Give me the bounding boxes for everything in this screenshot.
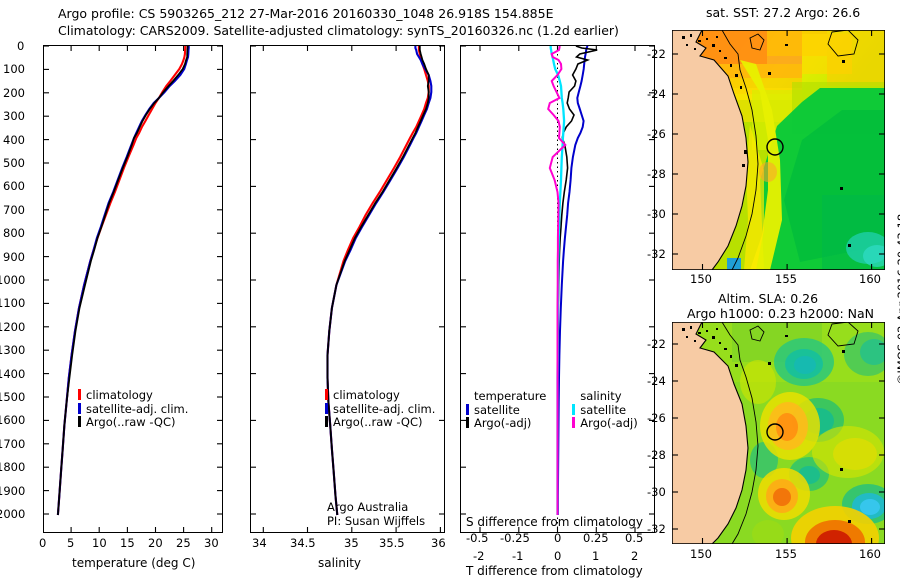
sdiff-xtick-0: 0 [554, 531, 561, 545]
tdiff-xtick-neg2: -2 [473, 549, 484, 563]
sst-ytick-neg30: -30 [647, 207, 666, 221]
legend-swatch-temp-argo [466, 417, 469, 428]
salinity-plot-canvas [250, 45, 445, 533]
depth-tick-1200: 1200 [0, 320, 25, 334]
legend-item-temp-argo: Argo(-adj) [466, 417, 546, 431]
depth-tick-1800: 1800 [0, 460, 25, 474]
legend-item-argo-raw: Argo(..raw -QC) [325, 416, 435, 430]
temp-xtick-10: 10 [92, 536, 107, 550]
legend-header-salinity: salinity [572, 390, 637, 404]
legend-swatch-climatology [325, 389, 328, 400]
sdiff-xtick-0p5: 0.5 [625, 531, 643, 545]
sdiff-xtick-0p25: 0.25 [583, 531, 609, 545]
legend-swatch-satellite-adj [325, 403, 328, 414]
temperature-difference-axis-label: T difference from climatology [466, 564, 643, 578]
tdiff-xtick-neg1: -1 [512, 549, 523, 563]
sal-xtick-35: 35 [344, 536, 359, 550]
temp-xtick-0: 0 [39, 536, 46, 550]
legend-item-sal-argo: Argo(-adj) [572, 417, 637, 431]
sla-ytick-neg28: -28 [647, 448, 666, 462]
difference-legend-salinity-column: salinity satellite Argo(-adj) [572, 390, 637, 431]
sst-xtick-150: 150 [690, 272, 712, 286]
sst-ytick-neg28: -28 [647, 167, 666, 181]
depth-tick-1500: 1500 [0, 390, 25, 404]
legend-item-sal-satellite: satellite [572, 404, 637, 418]
legend-swatch-sal-argo [572, 417, 575, 428]
legend-header-temperature: temperature [466, 390, 546, 404]
depth-tick-200: 200 [3, 86, 25, 100]
legend-item-argo-raw: Argo(..raw -QC) [78, 416, 188, 430]
figure-title-line2: Climatology: CARS2009. Satellite-adjuste… [58, 23, 619, 38]
sst-map [672, 30, 885, 270]
depth-tick-400: 400 [3, 133, 25, 147]
difference-legend: temperature satellite Argo(-adj) salinit… [466, 390, 638, 431]
depth-tick-1000: 1000 [0, 273, 25, 287]
legend-header-label: salinity [580, 389, 621, 403]
sal-xtick-34: 34 [252, 536, 267, 550]
legend-swatch-satellite-adj [78, 403, 81, 414]
sla-ytick-neg32: -32 [647, 522, 666, 536]
depth-tick-900: 900 [3, 250, 25, 264]
temperature-axis-label: temperature (deg C) [72, 556, 195, 570]
legend-item-climatology: climatology [78, 389, 188, 403]
depth-tick-800: 800 [3, 226, 25, 240]
temp-xtick-5: 5 [67, 536, 74, 550]
depth-tick-1100: 1100 [0, 296, 25, 310]
sst-ytick-neg24: -24 [647, 87, 666, 101]
attribution-line2: PI: Susan Wijffels [327, 514, 425, 528]
legend-header-label: temperature [474, 389, 546, 403]
tdiff-xtick-2: 2 [631, 549, 638, 563]
depth-tick-300: 300 [3, 109, 25, 123]
salinity-legend: climatology satellite-adj. clim. Argo(..… [325, 389, 435, 430]
imos-credit: ©IMOS 02-Apr-2016 20:43:18 [895, 214, 900, 385]
legend-label: satellite [580, 403, 626, 417]
sst-xtick-155: 155 [775, 272, 797, 286]
legend-item-temp-satellite: satellite [466, 404, 546, 418]
depth-tick-100: 100 [3, 62, 25, 76]
legend-label: Argo(-adj) [474, 416, 531, 430]
sst-ytick-neg26: -26 [647, 127, 666, 141]
temp-xtick-20: 20 [148, 536, 163, 550]
sst-map-title: sat. SST: 27.2 Argo: 26.6 [706, 5, 860, 20]
depth-tick-1700: 1700 [0, 437, 25, 451]
legend-swatch-climatology [78, 389, 81, 400]
temp-xtick-25: 25 [176, 536, 191, 550]
sla-ytick-neg24: -24 [647, 374, 666, 388]
depth-tick-500: 500 [3, 156, 25, 170]
legend-label: climatology [333, 388, 400, 402]
legend-swatch-temp-satellite [466, 404, 469, 415]
depth-tick-700: 700 [3, 203, 25, 217]
legend-label: climatology [86, 388, 153, 402]
depth-tick-1900: 1900 [0, 484, 25, 498]
figure-title-line1: Argo profile: CS 5903265_212 27-Mar-2016… [58, 6, 553, 21]
difference-legend-temperature-column: temperature satellite Argo(-adj) [466, 390, 546, 431]
sla-xtick-150: 150 [690, 547, 712, 561]
sla-xtick-160: 160 [859, 547, 881, 561]
sal-xtick-36: 36 [431, 536, 446, 550]
depth-tick-2000: 2000 [0, 507, 25, 521]
legend-label: satellite-adj. clim. [86, 402, 188, 416]
sla-xtick-155: 155 [775, 547, 797, 561]
legend-label: satellite [474, 403, 520, 417]
salinity-difference-axis-label: S difference from climatology [466, 515, 643, 529]
depth-tick-0: 0 [17, 39, 24, 53]
tdiff-xtick-1: 1 [592, 549, 599, 563]
sal-xtick-35p5: 35.5 [379, 536, 405, 550]
legend-swatch-argo-raw [78, 416, 81, 427]
salinity-axis-label: salinity [318, 556, 361, 570]
sst-ytick-neg32: -32 [647, 247, 666, 261]
legend-swatch-sal-satellite [572, 404, 575, 415]
sdiff-xtick-neg0p5: -0.5 [466, 531, 488, 545]
depth-tick-1600: 1600 [0, 413, 25, 427]
attribution-line1: Argo Australia [327, 500, 408, 514]
sla-ytick-neg26: -26 [647, 411, 666, 425]
depth-tick-1400: 1400 [0, 367, 25, 381]
temperature-plot-canvas [43, 45, 223, 533]
legend-item-satellite-adj: satellite-adj. clim. [78, 403, 188, 417]
sla-map-title-line1: Altim. SLA: 0.26 [718, 291, 818, 306]
sla-ytick-neg22: -22 [647, 337, 666, 351]
sla-map-title-line2: Argo h1000: 0.23 h2000: NaN [687, 306, 874, 321]
sst-xtick-160: 160 [859, 272, 881, 286]
sst-ytick-neg22: -22 [647, 47, 666, 61]
sal-xtick-34p5: 34.5 [290, 536, 316, 550]
sla-map [672, 322, 885, 544]
tdiff-xtick-0: 0 [554, 549, 561, 563]
legend-label: Argo(-adj) [580, 416, 637, 430]
temp-xtick-30: 30 [204, 536, 219, 550]
legend-swatch-argo-raw [325, 416, 328, 427]
sla-ytick-neg30: -30 [647, 485, 666, 499]
legend-item-satellite-adj: satellite-adj. clim. [325, 403, 435, 417]
depth-tick-1300: 1300 [0, 343, 25, 357]
legend-label: Argo(..raw -QC) [333, 415, 423, 429]
temperature-legend: climatology satellite-adj. clim. Argo(..… [78, 389, 188, 430]
legend-label: satellite-adj. clim. [333, 402, 435, 416]
legend-item-climatology: climatology [325, 389, 435, 403]
depth-tick-600: 600 [3, 179, 25, 193]
legend-label: Argo(..raw -QC) [86, 415, 176, 429]
sdiff-xtick-neg0p25: -0.25 [500, 531, 530, 545]
difference-plot-canvas [460, 45, 655, 533]
temp-xtick-15: 15 [120, 536, 135, 550]
